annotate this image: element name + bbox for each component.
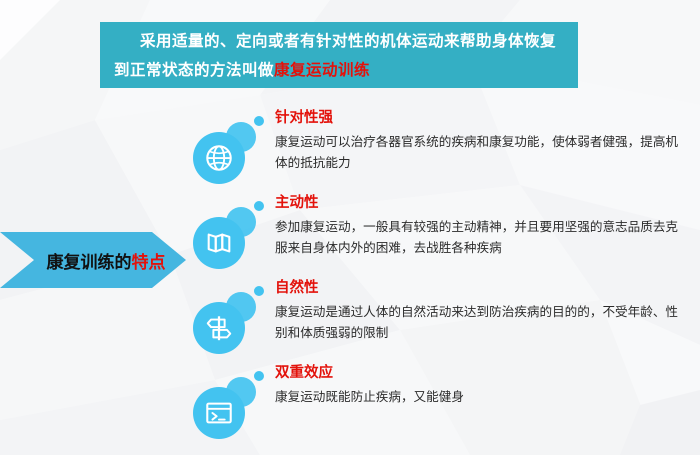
banner-line-2-highlight: 康复运动训练 (274, 61, 370, 79)
feature-title: 自然性 (275, 278, 690, 298)
feature-row: 针对性强 康复运动可以治疗各器官系统的疾病和康复功能，使体弱者健强，提高机体的抵… (190, 108, 690, 193)
decorative-dot-small (254, 201, 264, 211)
feature-row: 主动性 参加康复运动，一般具有较强的主动精神，并且要用坚强的意志品质去克服来自身… (190, 193, 690, 278)
banner-line-2-plain: 到正常状态的方法叫做 (114, 61, 274, 79)
feature-body: 康复运动既能防止疾病，又能健身 (275, 386, 683, 407)
slide-canvas: 采用适量的、定向或者有针对性的机体运动来帮助身体恢复 到正常状态的方法叫做康复运… (0, 0, 700, 455)
decorative-dot-small (254, 286, 264, 296)
feature-title: 针对性强 (275, 108, 690, 128)
banner-line-1: 采用适量的、定向或者有针对性的机体运动来帮助身体恢复 (114, 27, 564, 56)
icon-cluster (190, 369, 268, 441)
decorative-dot-small (254, 371, 264, 381)
header-banner: 采用适量的、定向或者有针对性的机体运动来帮助身体恢复 到正常状态的方法叫做康复运… (100, 22, 578, 88)
signpost-icon (193, 302, 245, 354)
icon-cluster (190, 199, 268, 271)
feature-body: 康复运动可以治疗各器官系统的疾病和康复功能，使体弱者健强，提高机体的抵抗能力 (275, 131, 683, 173)
feature-row: 双重效应 康复运动既能防止疾病，又能健身 (190, 363, 690, 448)
feature-body: 康复运动是通过人体的自然活动来达到防治疾病的目的的，不受年龄、性别和体质强弱的限… (275, 301, 683, 343)
icon-cluster (190, 114, 268, 186)
left-tag-label-highlight: 特点 (132, 248, 166, 273)
feature-title: 主动性 (275, 193, 690, 213)
icon-cluster (190, 284, 268, 356)
left-tag-label-plain: 康复训练的 (47, 248, 132, 273)
left-tag-label: 康复训练的特点 (40, 232, 172, 288)
open-book-icon (193, 217, 245, 269)
feature-text: 自然性 康复运动是通过人体的自然活动来达到防治疾病的目的的，不受年龄、性别和体质… (275, 278, 690, 343)
feature-row: 自然性 康复运动是通过人体的自然活动来达到防治疾病的目的的，不受年龄、性别和体质… (190, 278, 690, 363)
terminal-window-icon (193, 387, 245, 439)
decorative-dot-small (254, 116, 264, 126)
globe-icon (193, 132, 245, 184)
feature-title: 双重效应 (275, 363, 690, 383)
feature-text: 主动性 参加康复运动，一般具有较强的主动精神，并且要用坚强的意志品质去克服来自身… (275, 193, 690, 258)
feature-text: 针对性强 康复运动可以治疗各器官系统的疾病和康复功能，使体弱者健强，提高机体的抵… (275, 108, 690, 173)
feature-text: 双重效应 康复运动既能防止疾病，又能健身 (275, 363, 690, 407)
left-arrow-tag: 康复训练的特点 (0, 232, 186, 288)
feature-body: 参加康复运动，一般具有较强的主动精神，并且要用坚强的意志品质去克服来自身体内外的… (275, 216, 683, 258)
banner-line-2: 到正常状态的方法叫做康复运动训练 (114, 56, 564, 85)
